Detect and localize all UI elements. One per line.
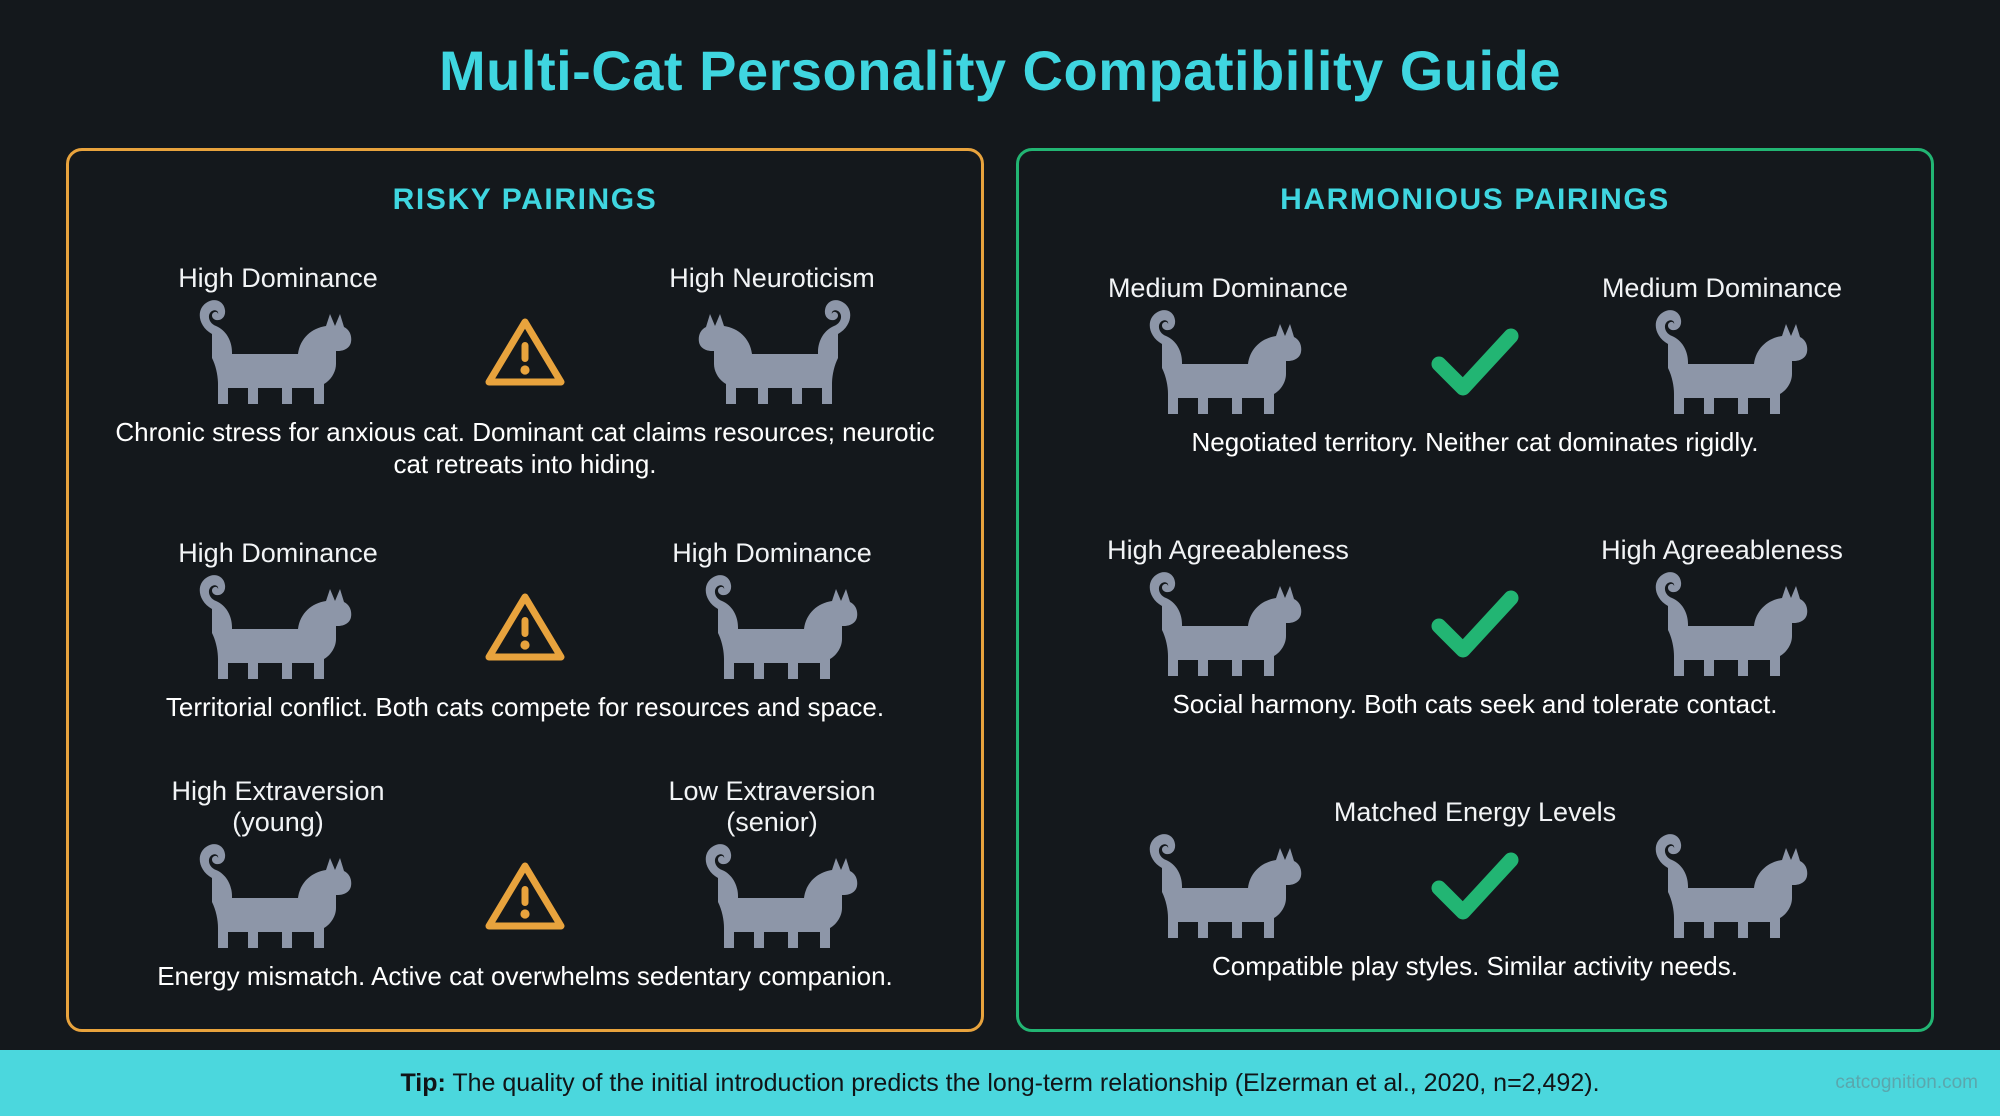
pair-label-right-main: High Neuroticism bbox=[669, 263, 875, 293]
page-title: Multi-Cat Personality Compatibility Guid… bbox=[0, 38, 2000, 103]
verdict-icon-check bbox=[1415, 586, 1535, 662]
pair-label-left: High Dominance bbox=[113, 538, 443, 568]
pair-labels: High Dominance High Dominance bbox=[91, 534, 959, 568]
panel-harmonious-pairings: HARMONIOUS PAIRINGS Medium Dominance Med… bbox=[1016, 148, 1934, 1032]
verdict-icon-warning bbox=[465, 314, 585, 390]
pair-label-left: High Extraversion (young) bbox=[113, 776, 443, 836]
pair-visual bbox=[1041, 303, 1909, 421]
pair-description: Territorial conflict. Both cats compete … bbox=[91, 686, 959, 724]
tip-prefix: Tip: bbox=[400, 1069, 445, 1097]
panel-header-harmonious: HARMONIOUS PAIRINGS bbox=[1041, 183, 1909, 223]
pair-label-left: Medium Dominance bbox=[1063, 273, 1393, 303]
pair-visual bbox=[91, 568, 959, 686]
pair-visual bbox=[91, 293, 959, 411]
verdict-icon-check bbox=[1415, 324, 1535, 400]
check-mark-icon bbox=[1429, 324, 1521, 400]
check-mark-icon bbox=[1429, 848, 1521, 924]
cat-silhouette-left bbox=[1057, 306, 1387, 418]
warning-triangle-icon bbox=[483, 314, 567, 390]
pair-label-right-main: Medium Dominance bbox=[1602, 273, 1842, 303]
pair-label-right: Low Extraversion (senior) bbox=[607, 776, 937, 836]
pair-description: Negotiated territory. Neither cat domina… bbox=[1041, 421, 1909, 459]
pair-label-single-main: Matched Energy Levels bbox=[1334, 797, 1616, 827]
panel-risky-pairings: RISKY PAIRINGS High Dominance High Neuro… bbox=[66, 148, 984, 1032]
pair-description: Compatible play styles. Similar activity… bbox=[1041, 945, 1909, 983]
risky-pair-list: High Dominance High Neuroticism bbox=[91, 233, 959, 1019]
cat-silhouette-right bbox=[1563, 830, 1893, 942]
cat-silhouette-left bbox=[107, 296, 437, 408]
pair-label-left-sub: (young) bbox=[113, 807, 443, 837]
pair-label-left-main: Medium Dominance bbox=[1108, 273, 1348, 303]
pair-row: High Agreeableness High Agreeableness bbox=[1041, 531, 1909, 721]
pair-labels: High Extraversion (young) Low Extraversi… bbox=[91, 776, 959, 836]
pair-labels: Matched Energy Levels bbox=[1041, 793, 1909, 827]
watermark: catcognition.com bbox=[1835, 1072, 1978, 1094]
cat-silhouette-left bbox=[107, 840, 437, 952]
panel-header-risky: RISKY PAIRINGS bbox=[91, 183, 959, 223]
cat-silhouette-right bbox=[1563, 568, 1893, 680]
pair-label-right-main: High Agreeableness bbox=[1601, 535, 1843, 565]
cat-silhouette-right bbox=[613, 571, 943, 683]
cat-silhouette-right bbox=[613, 296, 943, 408]
cat-silhouette-left bbox=[1057, 830, 1387, 942]
pair-row: Matched Energy Levels bbox=[1041, 793, 1909, 983]
pair-row: High Dominance High Dominance bbox=[91, 534, 959, 724]
pair-row: Medium Dominance Medium Dominance bbox=[1041, 269, 1909, 459]
pair-visual bbox=[91, 837, 959, 955]
pair-label-left-main: High Agreeableness bbox=[1107, 535, 1349, 565]
pair-row: High Dominance High Neuroticism bbox=[91, 259, 959, 480]
pair-description: Social harmony. Both cats seek and toler… bbox=[1041, 683, 1909, 721]
pair-labels: High Agreeableness High Agreeableness bbox=[1041, 531, 1909, 565]
pair-label-right: High Agreeableness bbox=[1557, 535, 1887, 565]
pair-label-right: High Neuroticism bbox=[607, 263, 937, 293]
pair-visual bbox=[1041, 565, 1909, 683]
pair-label-left-main: High Dominance bbox=[178, 538, 378, 568]
pair-label-left: High Dominance bbox=[113, 263, 443, 293]
pair-row: High Extraversion (young) Low Extraversi… bbox=[91, 776, 959, 992]
pair-label-single: Matched Energy Levels bbox=[1063, 797, 1887, 827]
cat-silhouette-right bbox=[613, 840, 943, 952]
tip-body: The quality of the initial introduction … bbox=[446, 1069, 1600, 1097]
pair-label-right: High Dominance bbox=[607, 538, 937, 568]
pair-label-right: Medium Dominance bbox=[1557, 273, 1887, 303]
pair-description: Energy mismatch. Active cat overwhelms s… bbox=[91, 955, 959, 993]
infographic-root: Multi-Cat Personality Compatibility Guid… bbox=[0, 0, 2000, 1116]
tip-bar: Tip: The quality of the initial introduc… bbox=[0, 1050, 2000, 1116]
check-mark-icon bbox=[1429, 586, 1521, 662]
pair-labels: High Dominance High Neuroticism bbox=[91, 259, 959, 293]
pair-label-right-sub: (senior) bbox=[607, 807, 937, 837]
cat-silhouette-left bbox=[1057, 568, 1387, 680]
tip-text: Tip: The quality of the initial introduc… bbox=[400, 1069, 1599, 1098]
pair-description: Chronic stress for anxious cat. Dominant… bbox=[91, 411, 959, 480]
warning-triangle-icon bbox=[483, 858, 567, 934]
pair-label-left-main: High Extraversion bbox=[171, 776, 384, 806]
pair-label-right-main: High Dominance bbox=[672, 538, 872, 568]
cat-silhouette-left bbox=[107, 571, 437, 683]
pair-visual bbox=[1041, 827, 1909, 945]
harmonious-pair-list: Medium Dominance Medium Dominance bbox=[1041, 233, 1909, 1019]
pair-labels: Medium Dominance Medium Dominance bbox=[1041, 269, 1909, 303]
pair-label-left: High Agreeableness bbox=[1063, 535, 1393, 565]
cat-silhouette-right bbox=[1563, 306, 1893, 418]
verdict-icon-warning bbox=[465, 589, 585, 665]
pair-label-right-main: Low Extraversion bbox=[668, 776, 875, 806]
pair-label-left-main: High Dominance bbox=[178, 263, 378, 293]
verdict-icon-warning bbox=[465, 858, 585, 934]
warning-triangle-icon bbox=[483, 589, 567, 665]
verdict-icon-check bbox=[1415, 848, 1535, 924]
panels-container: RISKY PAIRINGS High Dominance High Neuro… bbox=[66, 148, 1934, 1032]
